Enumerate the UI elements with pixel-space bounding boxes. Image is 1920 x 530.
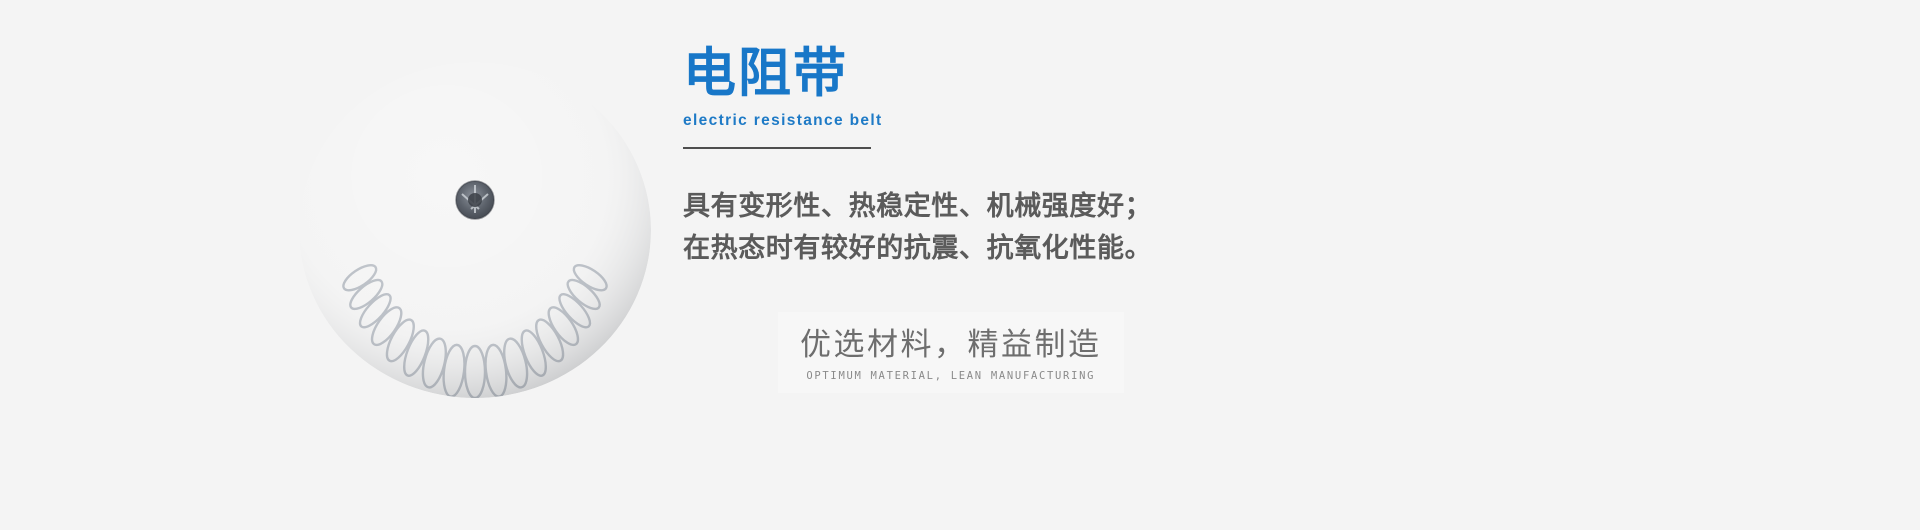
slogan-english: OPTIMUM MATERIAL, LEAN MANUFACTURING — [800, 370, 1102, 383]
product-description: 具有变形性、热稳定性、机械强度好； 在热态时有较好的抗震、抗氧化性能。 — [683, 186, 1303, 270]
description-line: 在热态时有较好的抗震、抗氧化性能。 — [683, 228, 1303, 270]
slogan-watermark: 优选材料，精益制造 OPTIMUM MATERIAL, LEAN MANUFAC… — [778, 312, 1124, 393]
title-divider — [683, 147, 871, 149]
product-banner: 电阻带 electric resistance belt 具有变形性、热稳定性、… — [0, 0, 1920, 530]
resistance-belt-coil-icon — [295, 50, 655, 400]
slogan-chinese: 优选材料，精益制造 — [800, 326, 1102, 364]
description-line: 具有变形性、热稳定性、机械强度好； — [683, 186, 1303, 228]
product-image — [295, 50, 655, 400]
title-block: 电阻带 electric resistance belt — [683, 46, 1243, 149]
content-column: 电阻带 electric resistance belt 具有变形性、热稳定性、… — [683, 0, 1843, 530]
page-subtitle: electric resistance belt — [683, 112, 1243, 130]
page-title: 电阻带 — [683, 46, 1243, 102]
